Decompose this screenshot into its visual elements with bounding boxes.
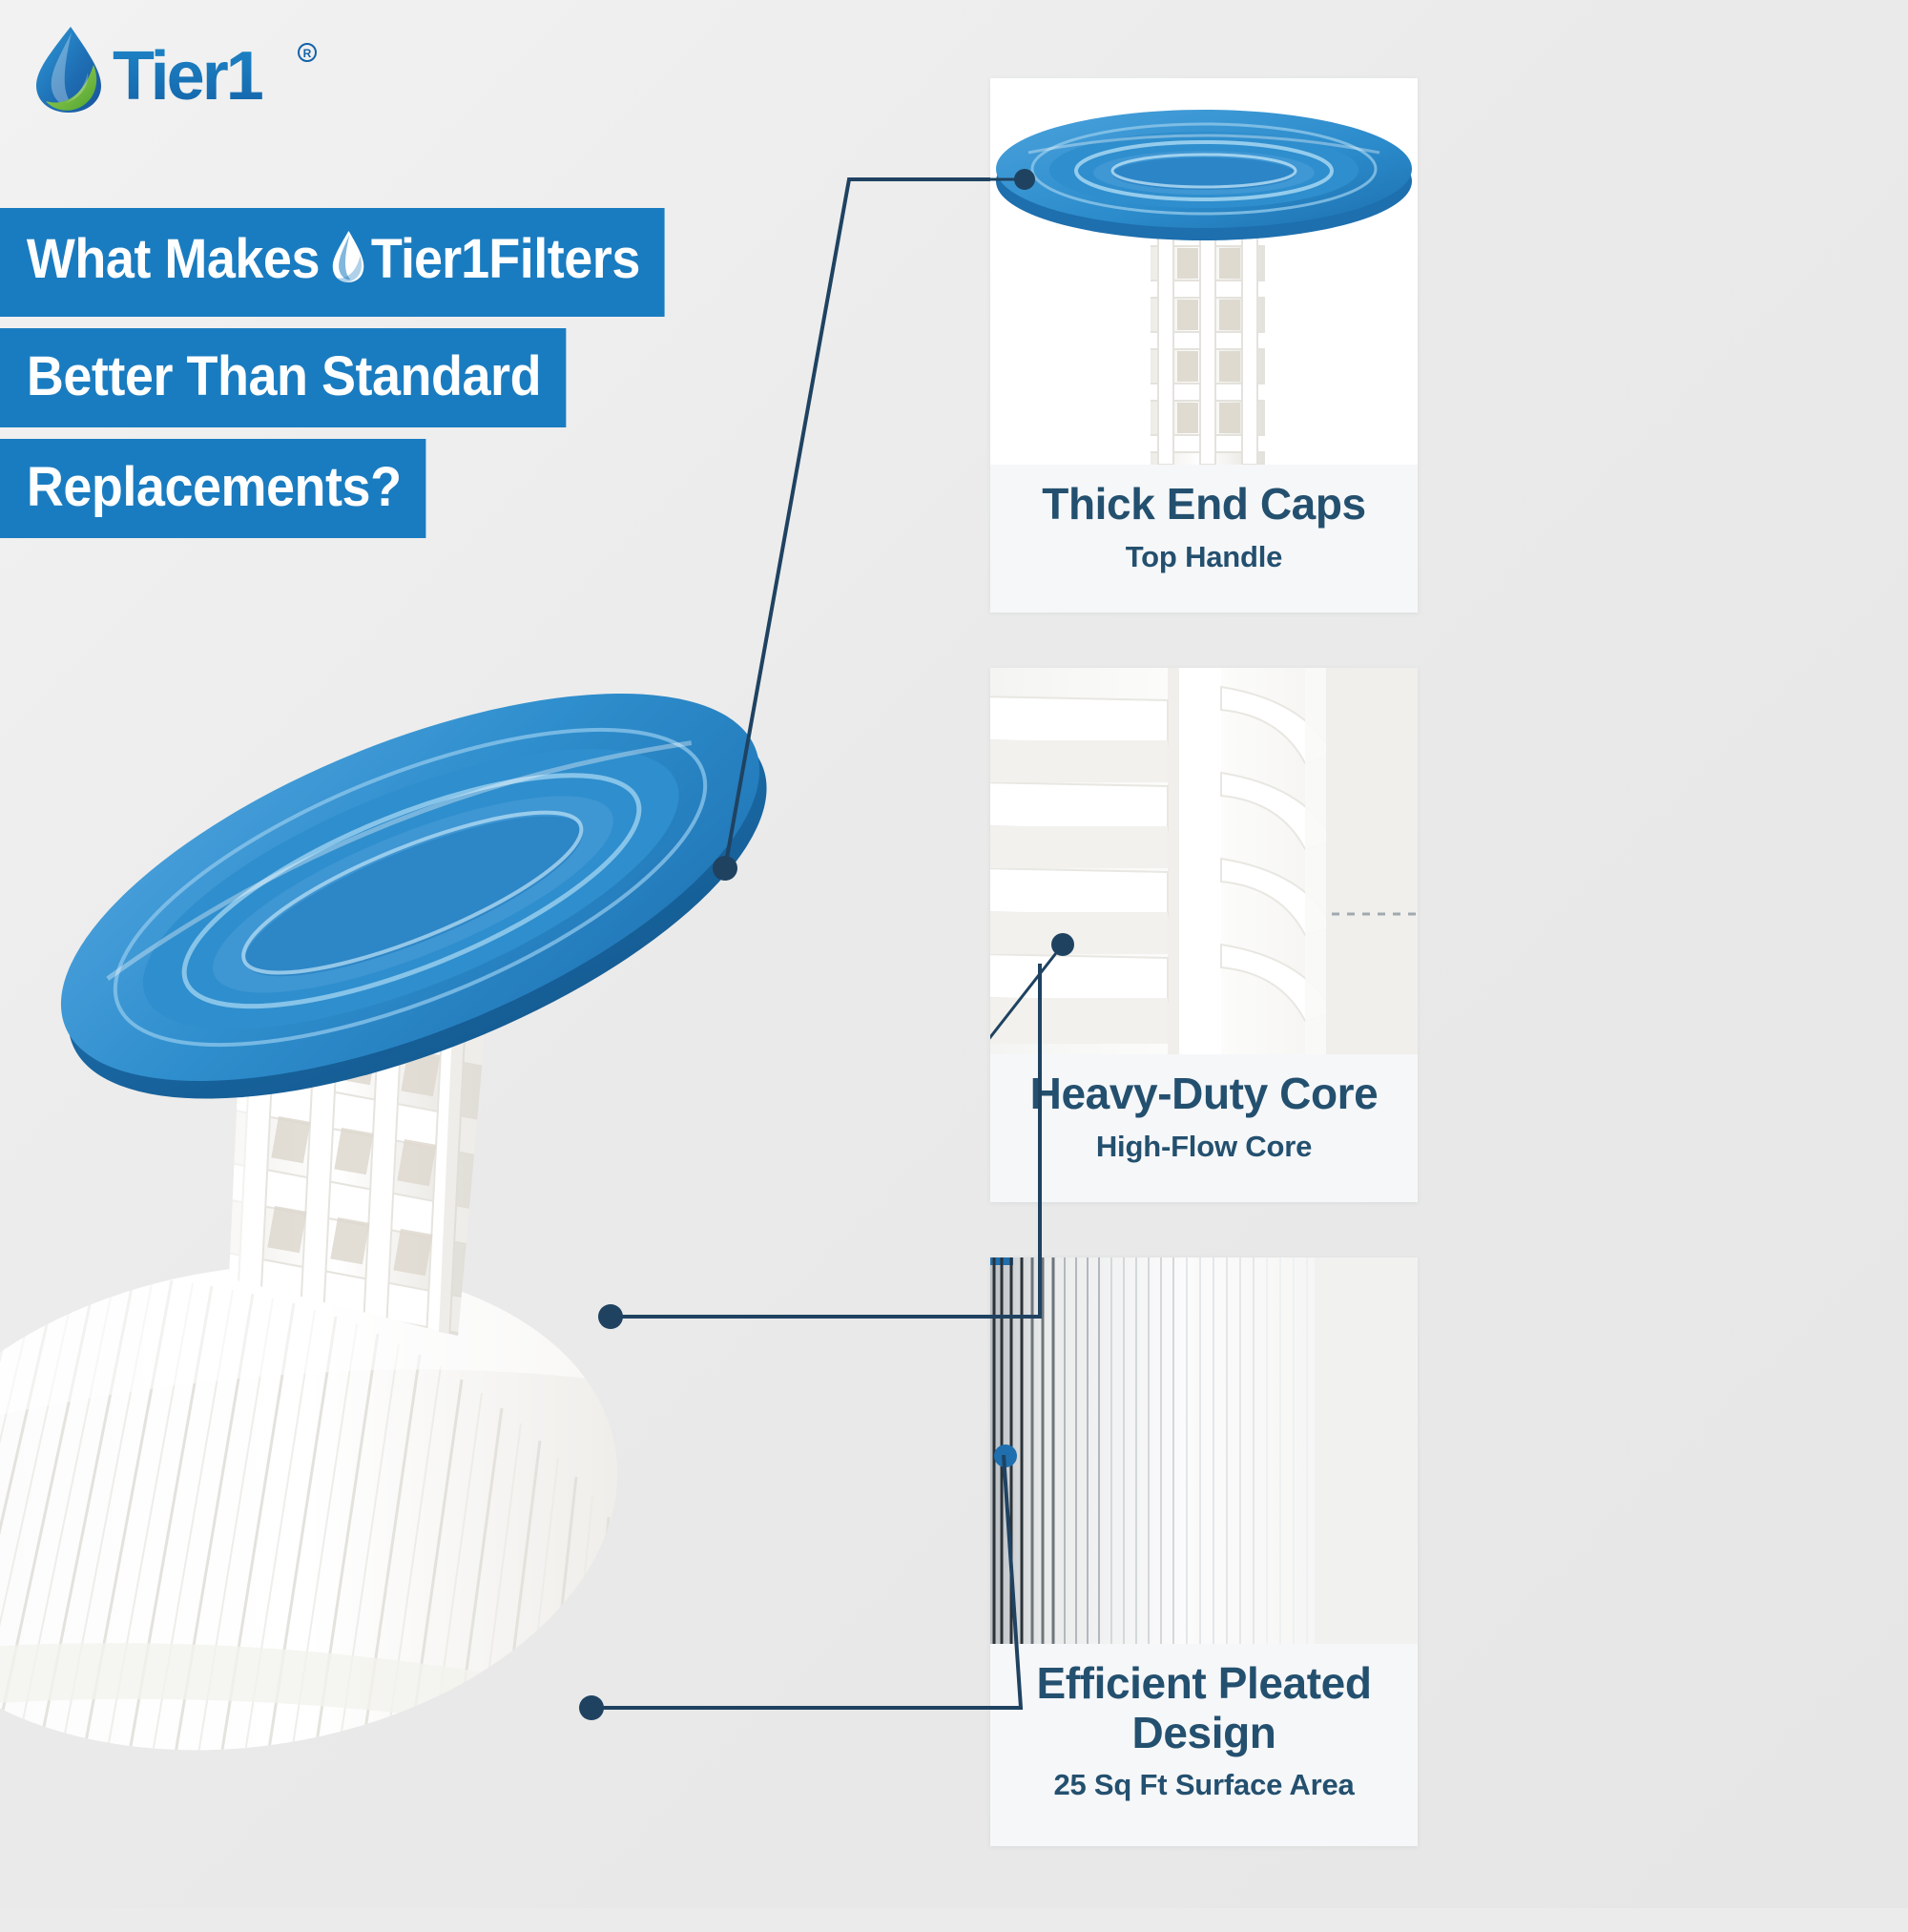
headline-line-3-row: Replacements?: [0, 439, 992, 538]
pleated-media-part: [0, 1240, 687, 1927]
card-caption: Efficient Pleated Design 25 Sq Ft Surfac…: [990, 1644, 1418, 1846]
headline-line-2-row: Better Than Standard: [0, 328, 992, 427]
svg-text:Tier1: Tier1: [113, 38, 263, 114]
card-title: Efficient Pleated Design: [1009, 1659, 1399, 1757]
brand-wordmark: Tier1: [113, 38, 263, 114]
feature-card-heavy-duty-core[interactable]: Heavy-Duty Core High-Flow Core: [990, 668, 1418, 1202]
feature-card-efficient-pleated-design[interactable]: Efficient Pleated Design 25 Sq Ft Surfac…: [990, 1257, 1418, 1846]
hero-product-image: [0, 668, 916, 1927]
card-title: Heavy-Duty Core: [1009, 1070, 1399, 1119]
headline-line-1: What Makes Tier1Filters: [0, 208, 665, 317]
card-subtitle: Top Handle: [1009, 539, 1399, 574]
card-caption: Thick End Caps Top Handle: [990, 465, 1418, 613]
card-subtitle: 25 Sq Ft Surface Area: [1009, 1767, 1399, 1802]
registered-trademark-icon: R: [299, 44, 316, 61]
headline-brand: Tier1: [371, 228, 488, 290]
headline-line1-before: What Makes: [27, 228, 320, 290]
card-subtitle: High-Flow Core: [1009, 1129, 1399, 1164]
headline-line-2: Better Than Standard: [0, 328, 566, 427]
headline: What Makes Tier1Filters Better Than Stan…: [0, 208, 992, 550]
headline-line-3: Replacements?: [0, 439, 426, 538]
headline-line-1-row: What Makes Tier1Filters: [0, 208, 992, 317]
infographic-canvas: Tier1 R What Makes Tier1Filters Better T…: [0, 0, 1908, 1908]
pleated-media-closeup-photo: [990, 1257, 1418, 1644]
leader-dot: [994, 1444, 1017, 1467]
droplet-icon: [36, 27, 101, 113]
feature-card-thick-end-caps[interactable]: Thick End Caps Top Handle: [990, 78, 1418, 613]
headline-line1-after: Filters: [488, 228, 640, 290]
core-ribs-closeup-photo: [990, 668, 1418, 1054]
card-title: Thick End Caps: [1009, 480, 1399, 530]
inline-droplet-icon: [328, 229, 367, 294]
brand-logo: Tier1 R: [21, 19, 336, 119]
card-caption: Heavy-Duty Core High-Flow Core: [990, 1054, 1418, 1202]
end-cap-top-handle-photo: [990, 78, 1418, 465]
svg-text:R: R: [303, 47, 312, 60]
